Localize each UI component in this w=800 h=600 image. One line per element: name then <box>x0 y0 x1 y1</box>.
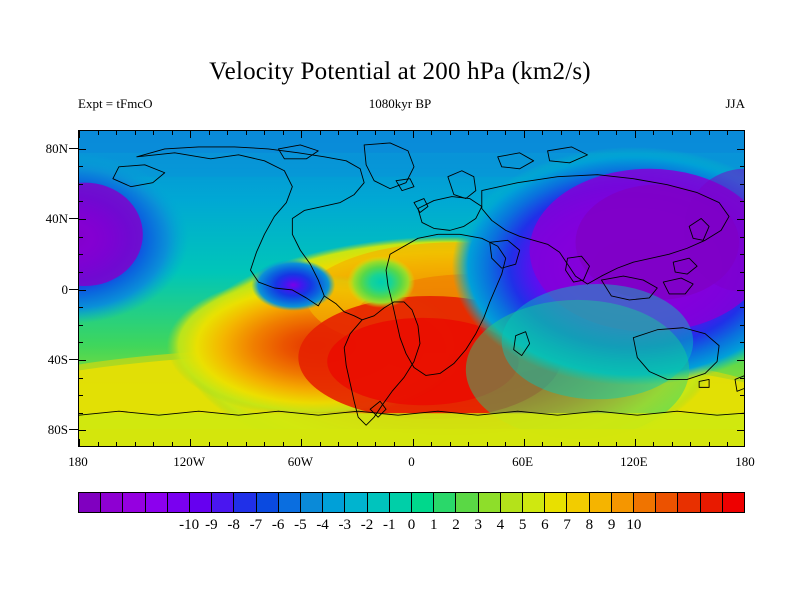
colorbar-cell-18 <box>479 493 501 512</box>
y-tick-outer <box>69 289 78 290</box>
colorbar-cell-3 <box>146 493 168 512</box>
latitude-label-2: 0 <box>8 283 68 296</box>
chart-title: Velocity Potential at 200 hPa (km2/s) <box>0 57 800 87</box>
plot-frame <box>78 130 745 447</box>
longitude-label-1: 120W <box>149 455 229 468</box>
latitude-label-3: 40S <box>8 353 68 366</box>
colorbar-cell-2 <box>123 493 145 512</box>
colorbar-cell-26 <box>656 493 678 512</box>
colorbar-cell-17 <box>456 493 478 512</box>
colorbar-cell-25 <box>634 493 656 512</box>
y-tick-outer <box>69 218 78 219</box>
colorbar-cell-10 <box>301 493 323 512</box>
colorbar-cell-1 <box>101 493 123 512</box>
map-plot-area <box>78 130 745 447</box>
colorbar-label-20: 10 <box>611 516 657 534</box>
longitude-label-0: 180 <box>38 455 118 468</box>
longitude-label-4: 60E <box>483 455 563 468</box>
longitude-label-3: 0 <box>372 455 452 468</box>
longitude-label-5: 120E <box>594 455 674 468</box>
colorbar-cell-15 <box>412 493 434 512</box>
colorbar-cell-24 <box>612 493 634 512</box>
experiment-label: Expt = tFmcO <box>78 96 153 112</box>
colorbar-cell-16 <box>434 493 456 512</box>
y-tick-outer <box>69 429 78 430</box>
season-label: JJA <box>725 96 745 112</box>
colorbar-cell-29 <box>723 493 744 512</box>
velocity-potential-field <box>79 131 744 446</box>
colorbar <box>78 492 745 513</box>
colorbar-cell-23 <box>590 493 612 512</box>
colorbar-cell-21 <box>545 493 567 512</box>
velocity-potential-figure: Velocity Potential at 200 hPa (km2/s) 10… <box>0 0 800 600</box>
colorbar-cell-13 <box>368 493 390 512</box>
colorbar-cell-20 <box>523 493 545 512</box>
colorbar-tick-labels: -10-9-8-7-6-5-4-3-2-1012345678910 <box>78 516 745 536</box>
latitude-label-0: 80N <box>8 142 68 155</box>
colorbar-cell-4 <box>168 493 190 512</box>
colorbar-cell-14 <box>390 493 412 512</box>
y-tick-outer <box>69 148 78 149</box>
colorbar-cell-5 <box>190 493 212 512</box>
longitude-label-2: 60W <box>260 455 340 468</box>
colorbar-cell-11 <box>323 493 345 512</box>
colorbar-cell-7 <box>234 493 256 512</box>
latitude-label-4: 80S <box>8 423 68 436</box>
colorbar-cell-9 <box>279 493 301 512</box>
y-tick-outer <box>69 359 78 360</box>
colorbar-cell-8 <box>257 493 279 512</box>
colorbar-cell-28 <box>701 493 723 512</box>
colorbar-cell-22 <box>567 493 589 512</box>
latitude-label-1: 40N <box>8 212 68 225</box>
colorbar-cell-27 <box>678 493 700 512</box>
colorbar-cell-6 <box>212 493 234 512</box>
colorbar-cell-19 <box>501 493 523 512</box>
colorbar-cell-0 <box>79 493 101 512</box>
longitude-label-6: 180 <box>705 455 785 468</box>
colorbar-cell-12 <box>345 493 367 512</box>
